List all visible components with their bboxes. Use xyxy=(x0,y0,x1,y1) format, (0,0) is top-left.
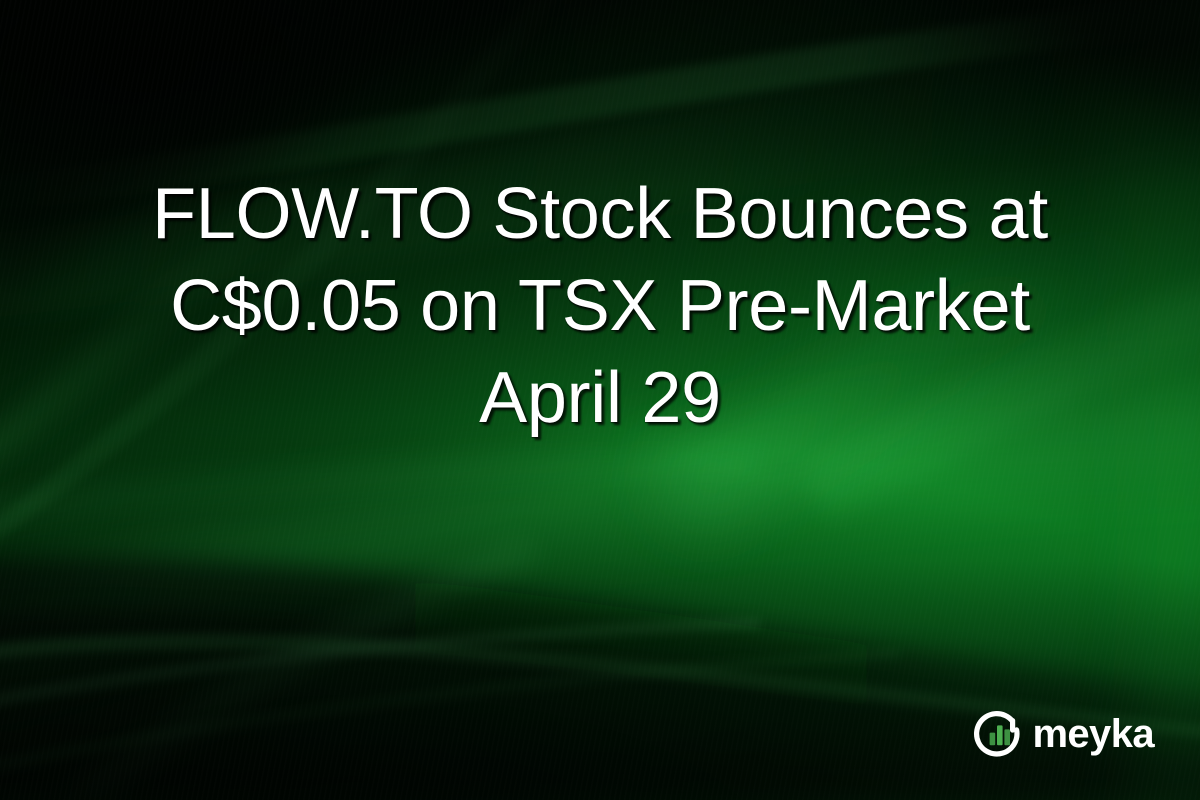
meyka-logo[interactable]: meyka xyxy=(972,708,1154,762)
headline: FLOW.TO Stock Bounces at C$0.05 on TSX P… xyxy=(0,168,1200,444)
meyka-wordmark: meyka xyxy=(1032,714,1154,754)
headline-line-3: April 29 xyxy=(70,352,1130,444)
meyka-logo-mark-icon xyxy=(972,708,1026,762)
headline-line-2: C$0.05 on TSX Pre-Market xyxy=(70,260,1130,352)
share-card: FLOW.TO Stock Bounces at C$0.05 on TSX P… xyxy=(0,0,1200,800)
headline-line-1: FLOW.TO Stock Bounces at xyxy=(70,168,1130,260)
